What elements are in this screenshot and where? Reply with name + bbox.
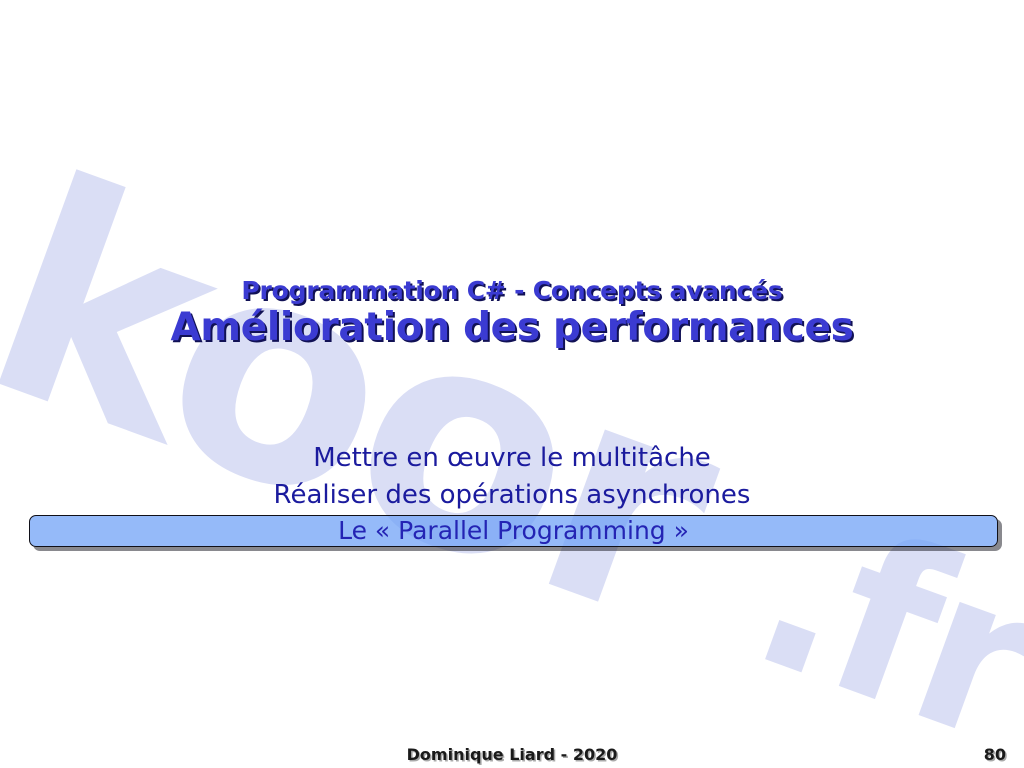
koor-fr-watermark: koor .fr	[0, 0, 1024, 768]
agenda-item: Réaliser des opérations asynchrones	[0, 477, 1024, 514]
footer-page-number: 80	[984, 745, 1006, 764]
slide-canvas: koor .fr Programmation C# - Concepts ava…	[0, 0, 1024, 768]
agenda-list: Mettre en œuvre le multitâche Réaliser d…	[0, 440, 1024, 514]
current-section-label: Le « Parallel Programming »	[29, 515, 998, 547]
agenda-item: Mettre en œuvre le multitâche	[0, 440, 1024, 477]
slide-subtitle: Programmation C# - Concepts avancés	[0, 278, 1024, 304]
slide-title: Amélioration des performances	[0, 306, 1024, 351]
footer-author: Dominique Liard - 2020	[0, 745, 1024, 764]
title-block: Programmation C# - Concepts avancés Amél…	[0, 278, 1024, 351]
watermark-koor-text: koor	[0, 137, 745, 668]
